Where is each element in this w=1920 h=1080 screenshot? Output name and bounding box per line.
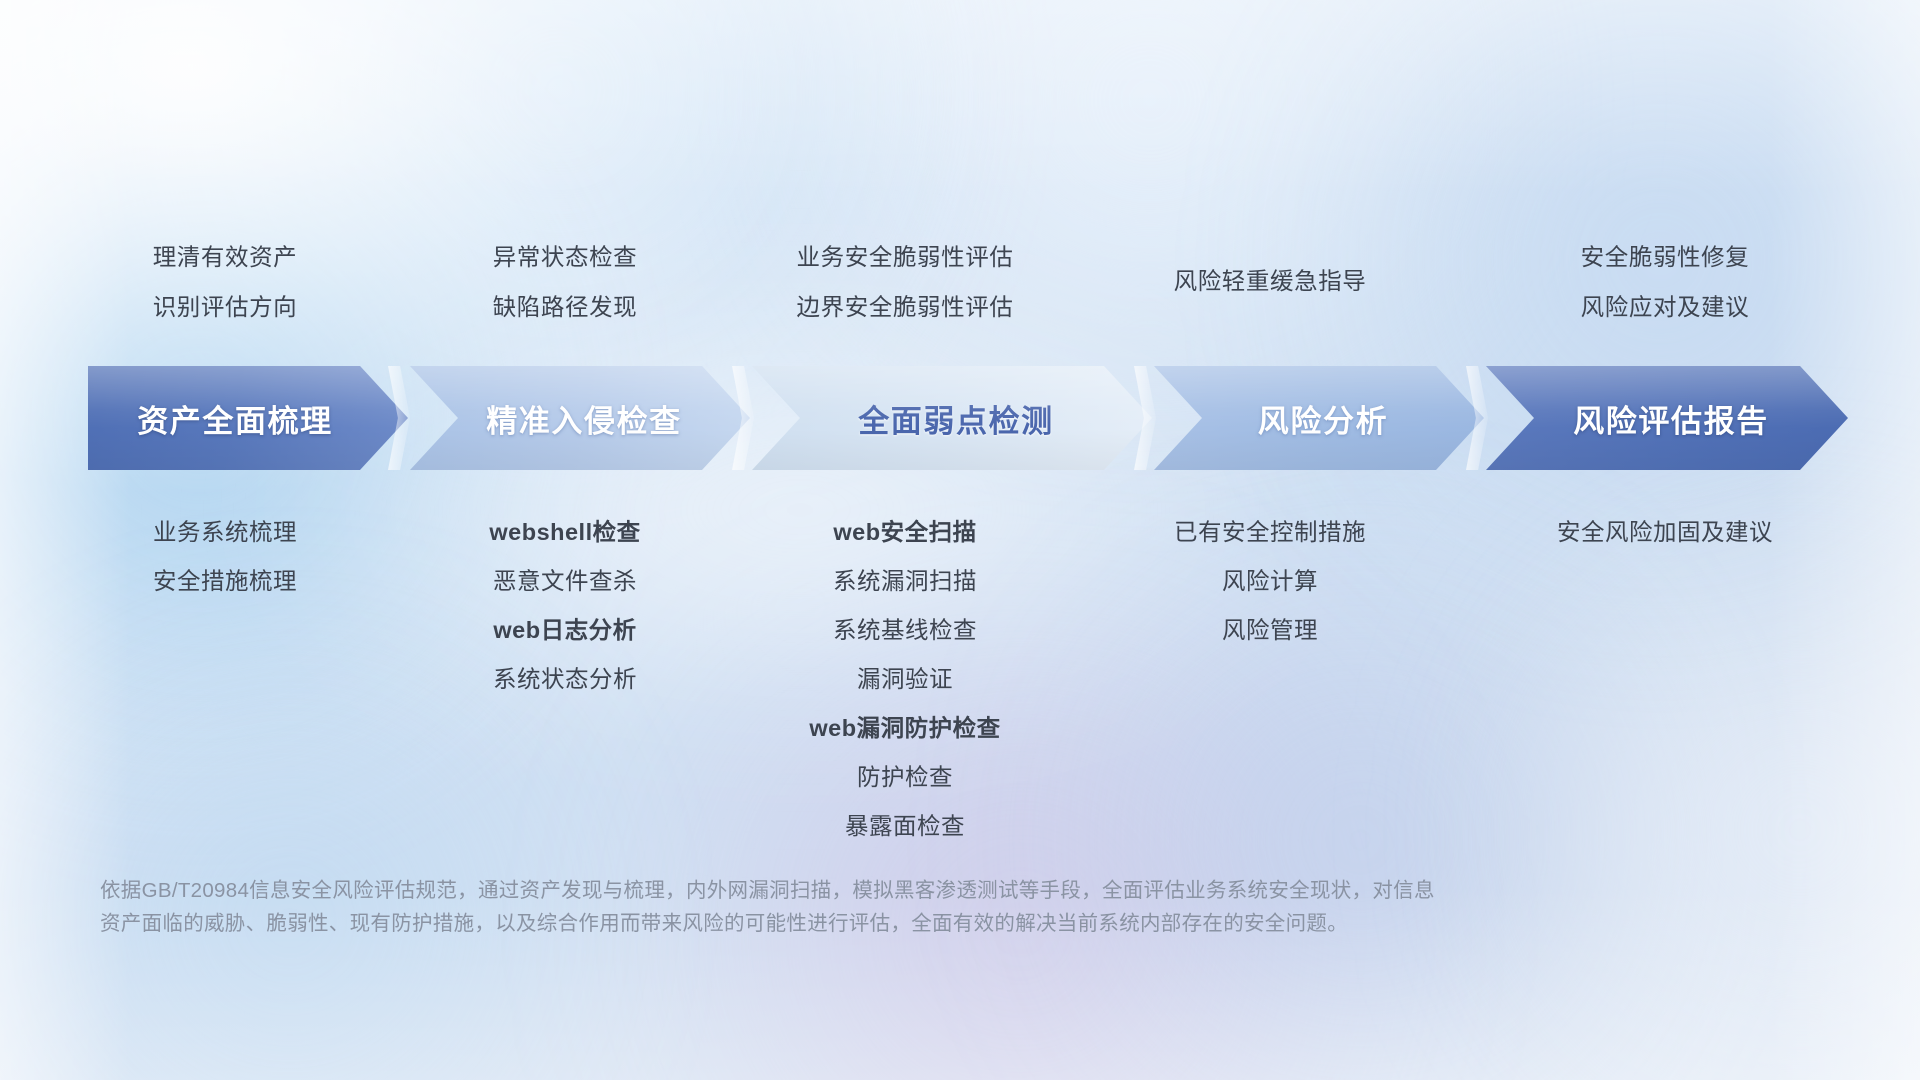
stage-task-item: 风险计算 (1080, 557, 1460, 606)
stage-task-item: 安全风险加固及建议 (1455, 508, 1875, 557)
process-stage-arrow-intrusion-check[interactable]: 精准入侵检查 (410, 366, 750, 470)
stage-task-item: 系统漏洞扫描 (705, 557, 1105, 606)
process-arrow-band: 资产全面梳理 精准入侵检查 全面弱点检测 风险分析 风险评估报告 (88, 366, 1848, 470)
stage-tasks-weakness-detection: web安全扫描 系统漏洞扫描 系统基线检查 漏洞验证 web漏洞防护检查 防护检… (705, 508, 1105, 851)
stage-task-item: 业务系统梳理 (50, 508, 400, 557)
stage-title: 风险分析 (1154, 396, 1484, 441)
stage-title: 精准入侵检查 (410, 396, 750, 441)
stage-task-item: 防护检查 (705, 753, 1105, 802)
stage-task-item: 漏洞验证 (705, 655, 1105, 704)
stage-task-item: 系统基线检查 (705, 606, 1105, 655)
stage-title: 资产全面梳理 (88, 396, 408, 441)
stage-title: 全面弱点检测 (752, 396, 1152, 441)
stage-task-item: web日志分析 (390, 606, 740, 655)
stage-outcomes-risk-report: 安全脆弱性修复 风险应对及建议 (1455, 232, 1875, 332)
process-stage-arrow-risk-analysis[interactable]: 风险分析 (1154, 366, 1484, 470)
stage-task-item: webshell检查 (390, 508, 740, 557)
stage-outcome-item: 业务安全脆弱性评估 (705, 232, 1105, 282)
stage-outcome-item: 理清有效资产 (50, 232, 400, 282)
stage-task-item: 风险管理 (1080, 606, 1460, 655)
footer-line: 资产面临的威胁、脆弱性、现有防护措施，以及综合作用而带来风险的可能性进行评估，全… (100, 907, 1700, 940)
footer-description: 依据GB/T20984信息安全风险评估规范，通过资产发现与梳理，内外网漏洞扫描，… (100, 874, 1700, 940)
process-stage-arrow-weakness-detection[interactable]: 全面弱点检测 (752, 366, 1152, 470)
stage-outcome-item: 风险应对及建议 (1455, 282, 1875, 332)
stage-tasks-risk-analysis: 已有安全控制措施 风险计算 风险管理 (1080, 508, 1460, 655)
stage-outcome-item: 风险轻重缓急指导 (1080, 256, 1460, 306)
stage-outcomes-risk-analysis: 风险轻重缓急指导 (1080, 256, 1460, 306)
assessment-process-diagram: 理清有效资产 识别评估方向 业务系统梳理 安全措施梳理 异常状态检查 缺陷路径发… (0, 0, 1920, 1080)
stage-outcome-item: 边界安全脆弱性评估 (705, 282, 1105, 332)
stage-tasks-risk-report: 安全风险加固及建议 (1455, 508, 1875, 557)
footer-line: 依据GB/T20984信息安全风险评估规范，通过资产发现与梳理，内外网漏洞扫描，… (100, 874, 1700, 907)
stage-outcomes-asset-inventory: 理清有效资产 识别评估方向 (50, 232, 400, 332)
stage-task-item: 恶意文件查杀 (390, 557, 740, 606)
stage-tasks-asset-inventory: 业务系统梳理 安全措施梳理 (50, 508, 400, 606)
stage-task-item: 系统状态分析 (390, 655, 740, 704)
stage-title: 风险评估报告 (1486, 396, 1848, 441)
stage-outcome-item: 异常状态检查 (390, 232, 740, 282)
stage-outcomes-weakness-detection: 业务安全脆弱性评估 边界安全脆弱性评估 (705, 232, 1105, 332)
stage-task-item: 安全措施梳理 (50, 557, 400, 606)
stage-task-item: 已有安全控制措施 (1080, 508, 1460, 557)
stage-task-item: 暴露面检查 (705, 802, 1105, 851)
stage-outcome-item: 识别评估方向 (50, 282, 400, 332)
stage-task-item: web安全扫描 (705, 508, 1105, 557)
stage-task-item: web漏洞防护检查 (705, 704, 1105, 753)
process-stage-arrow-risk-report[interactable]: 风险评估报告 (1486, 366, 1848, 470)
stage-outcome-item: 安全脆弱性修复 (1455, 232, 1875, 282)
stage-tasks-intrusion-check: webshell检查 恶意文件查杀 web日志分析 系统状态分析 (390, 508, 740, 704)
stage-outcomes-intrusion-check: 异常状态检查 缺陷路径发现 (390, 232, 740, 332)
process-stage-arrow-asset-inventory[interactable]: 资产全面梳理 (88, 366, 408, 470)
stage-outcome-item: 缺陷路径发现 (390, 282, 740, 332)
